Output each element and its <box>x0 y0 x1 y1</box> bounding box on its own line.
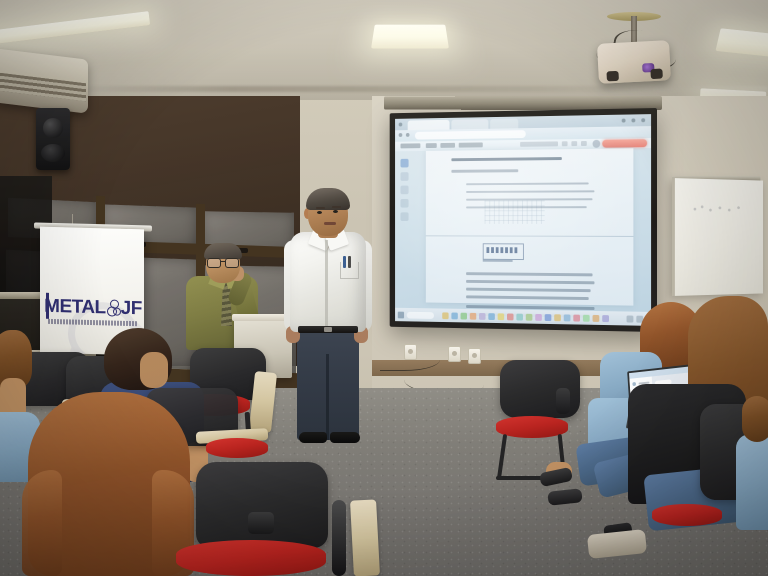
taskbar-app-icon[interactable] <box>564 314 571 321</box>
share-button[interactable] <box>602 139 647 148</box>
browser-maximize-icon[interactable] <box>631 118 635 122</box>
hair-strand <box>22 470 62 576</box>
browser-tab[interactable] <box>490 119 518 129</box>
chair-knob[interactable] <box>556 388 570 414</box>
taskbar-app-icon[interactable] <box>479 313 485 320</box>
pen-icon <box>343 256 346 268</box>
taskbar-app-icon[interactable] <box>535 314 542 321</box>
docs-sidebar-icon[interactable] <box>400 172 408 181</box>
docs-menu-item-editar[interactable] <box>426 143 437 148</box>
ceiling-projector <box>597 40 671 84</box>
browser-minimize-icon[interactable] <box>622 119 626 123</box>
taskbar-app-icon[interactable] <box>545 314 552 321</box>
docs-menu-item-arquivo[interactable] <box>400 143 420 148</box>
docs-menu-item-inserir[interactable] <box>459 142 483 147</box>
taskbar-app-icon[interactable] <box>573 315 580 322</box>
doc-body-line <box>466 288 591 292</box>
taskbar-search-input[interactable] <box>407 312 434 319</box>
whiteboard <box>672 178 763 296</box>
taskbar-app-icon[interactable] <box>516 314 523 321</box>
doc-quote-line <box>466 190 594 193</box>
doc-subheading <box>451 169 518 172</box>
projector-lens-icon <box>642 63 654 73</box>
tablet-arm-desk[interactable] <box>350 499 380 576</box>
presenter-belt <box>298 326 358 333</box>
avatar[interactable] <box>593 140 601 148</box>
docs-sidebar-icon[interactable] <box>400 199 408 208</box>
presenter-hair <box>306 188 350 210</box>
chair-knob[interactable] <box>248 512 274 534</box>
taskbar-app-icon[interactable] <box>470 313 476 320</box>
face-side <box>140 352 168 388</box>
taskbar-app-icon[interactable] <box>461 313 467 320</box>
projection-screen <box>390 108 657 332</box>
taskbar-app-icon[interactable] <box>583 315 590 322</box>
back-icon[interactable] <box>399 133 403 137</box>
taskbar-app-icon[interactable] <box>451 313 457 320</box>
forward-icon[interactable] <box>406 133 410 137</box>
doc-heading <box>451 157 561 162</box>
browser-nav-icon[interactable] <box>399 123 403 127</box>
doc-page-divider <box>426 235 634 237</box>
chair-arm-post <box>332 500 346 576</box>
doc-quote-line <box>466 182 589 185</box>
document-page <box>426 148 634 305</box>
ceiling-seam <box>0 86 768 92</box>
helmont-logo <box>483 243 524 260</box>
docs-toolbar-bold-icon[interactable] <box>562 141 568 146</box>
doc-table-grid <box>485 200 545 224</box>
docs-sidebar-icon[interactable] <box>400 212 408 221</box>
taskbar-app-icon[interactable] <box>554 314 561 321</box>
gear-icon <box>107 299 120 316</box>
blue-top <box>736 434 768 530</box>
pen-icon <box>348 256 351 268</box>
eyeglasses-icon <box>206 258 240 266</box>
presenter-trousers <box>297 328 359 440</box>
presenter-shoe <box>299 432 327 443</box>
docs-menu-item-ver[interactable] <box>440 143 455 148</box>
banner-logo-text-right: JF <box>121 298 142 318</box>
wall-outlet[interactable] <box>448 346 461 362</box>
presenter-shirt <box>290 232 366 332</box>
browser-close-icon[interactable] <box>641 118 645 122</box>
chair-seat[interactable] <box>652 504 722 526</box>
chair-seat[interactable] <box>206 438 268 458</box>
browser-tab[interactable] <box>451 119 488 129</box>
start-button-icon[interactable] <box>398 312 404 319</box>
taskbar-app-icon[interactable] <box>602 315 609 322</box>
taskbar-folder-icon[interactable] <box>442 312 448 319</box>
wall-outlet[interactable] <box>468 348 481 364</box>
classroom-presentation-photo: METAL JF SINDICATO DOS TRABALHADORES NAS… <box>0 0 768 576</box>
taskbar-tray-icon[interactable] <box>627 315 634 322</box>
doc-body-line <box>466 280 594 284</box>
browser-url-bar[interactable] <box>415 130 526 139</box>
docs-outline-icon[interactable] <box>400 159 408 168</box>
banner-logo: METAL JF <box>46 293 140 321</box>
docs-sidebar-icon[interactable] <box>400 186 408 195</box>
projection-surface <box>395 114 651 326</box>
doc-body-line <box>466 295 589 299</box>
doc-body-line <box>466 272 592 276</box>
whiteboard-scribble <box>690 200 749 216</box>
docs-toolbar-font[interactable] <box>520 141 558 146</box>
wall-speaker <box>36 108 70 170</box>
ceiling-light-center <box>371 25 449 49</box>
presenter-shoe <box>330 432 360 443</box>
taskbar-app-icon[interactable] <box>488 313 495 320</box>
chair-seat[interactable] <box>176 540 326 576</box>
taskbar-app-icon[interactable] <box>593 315 600 322</box>
head-hair <box>742 396 768 442</box>
taskbar-app-icon[interactable] <box>498 313 505 320</box>
taskbar-app-icon[interactable] <box>507 313 514 320</box>
banner-logo-text-left: METAL <box>44 296 106 317</box>
helmont-logo-subtitle <box>483 260 513 263</box>
taskbar-app-icon[interactable] <box>526 314 533 321</box>
docs-toolbar-underline-icon[interactable] <box>581 141 587 146</box>
docs-toolbar-italic-icon[interactable] <box>571 141 577 146</box>
chair-back[interactable] <box>196 462 328 548</box>
